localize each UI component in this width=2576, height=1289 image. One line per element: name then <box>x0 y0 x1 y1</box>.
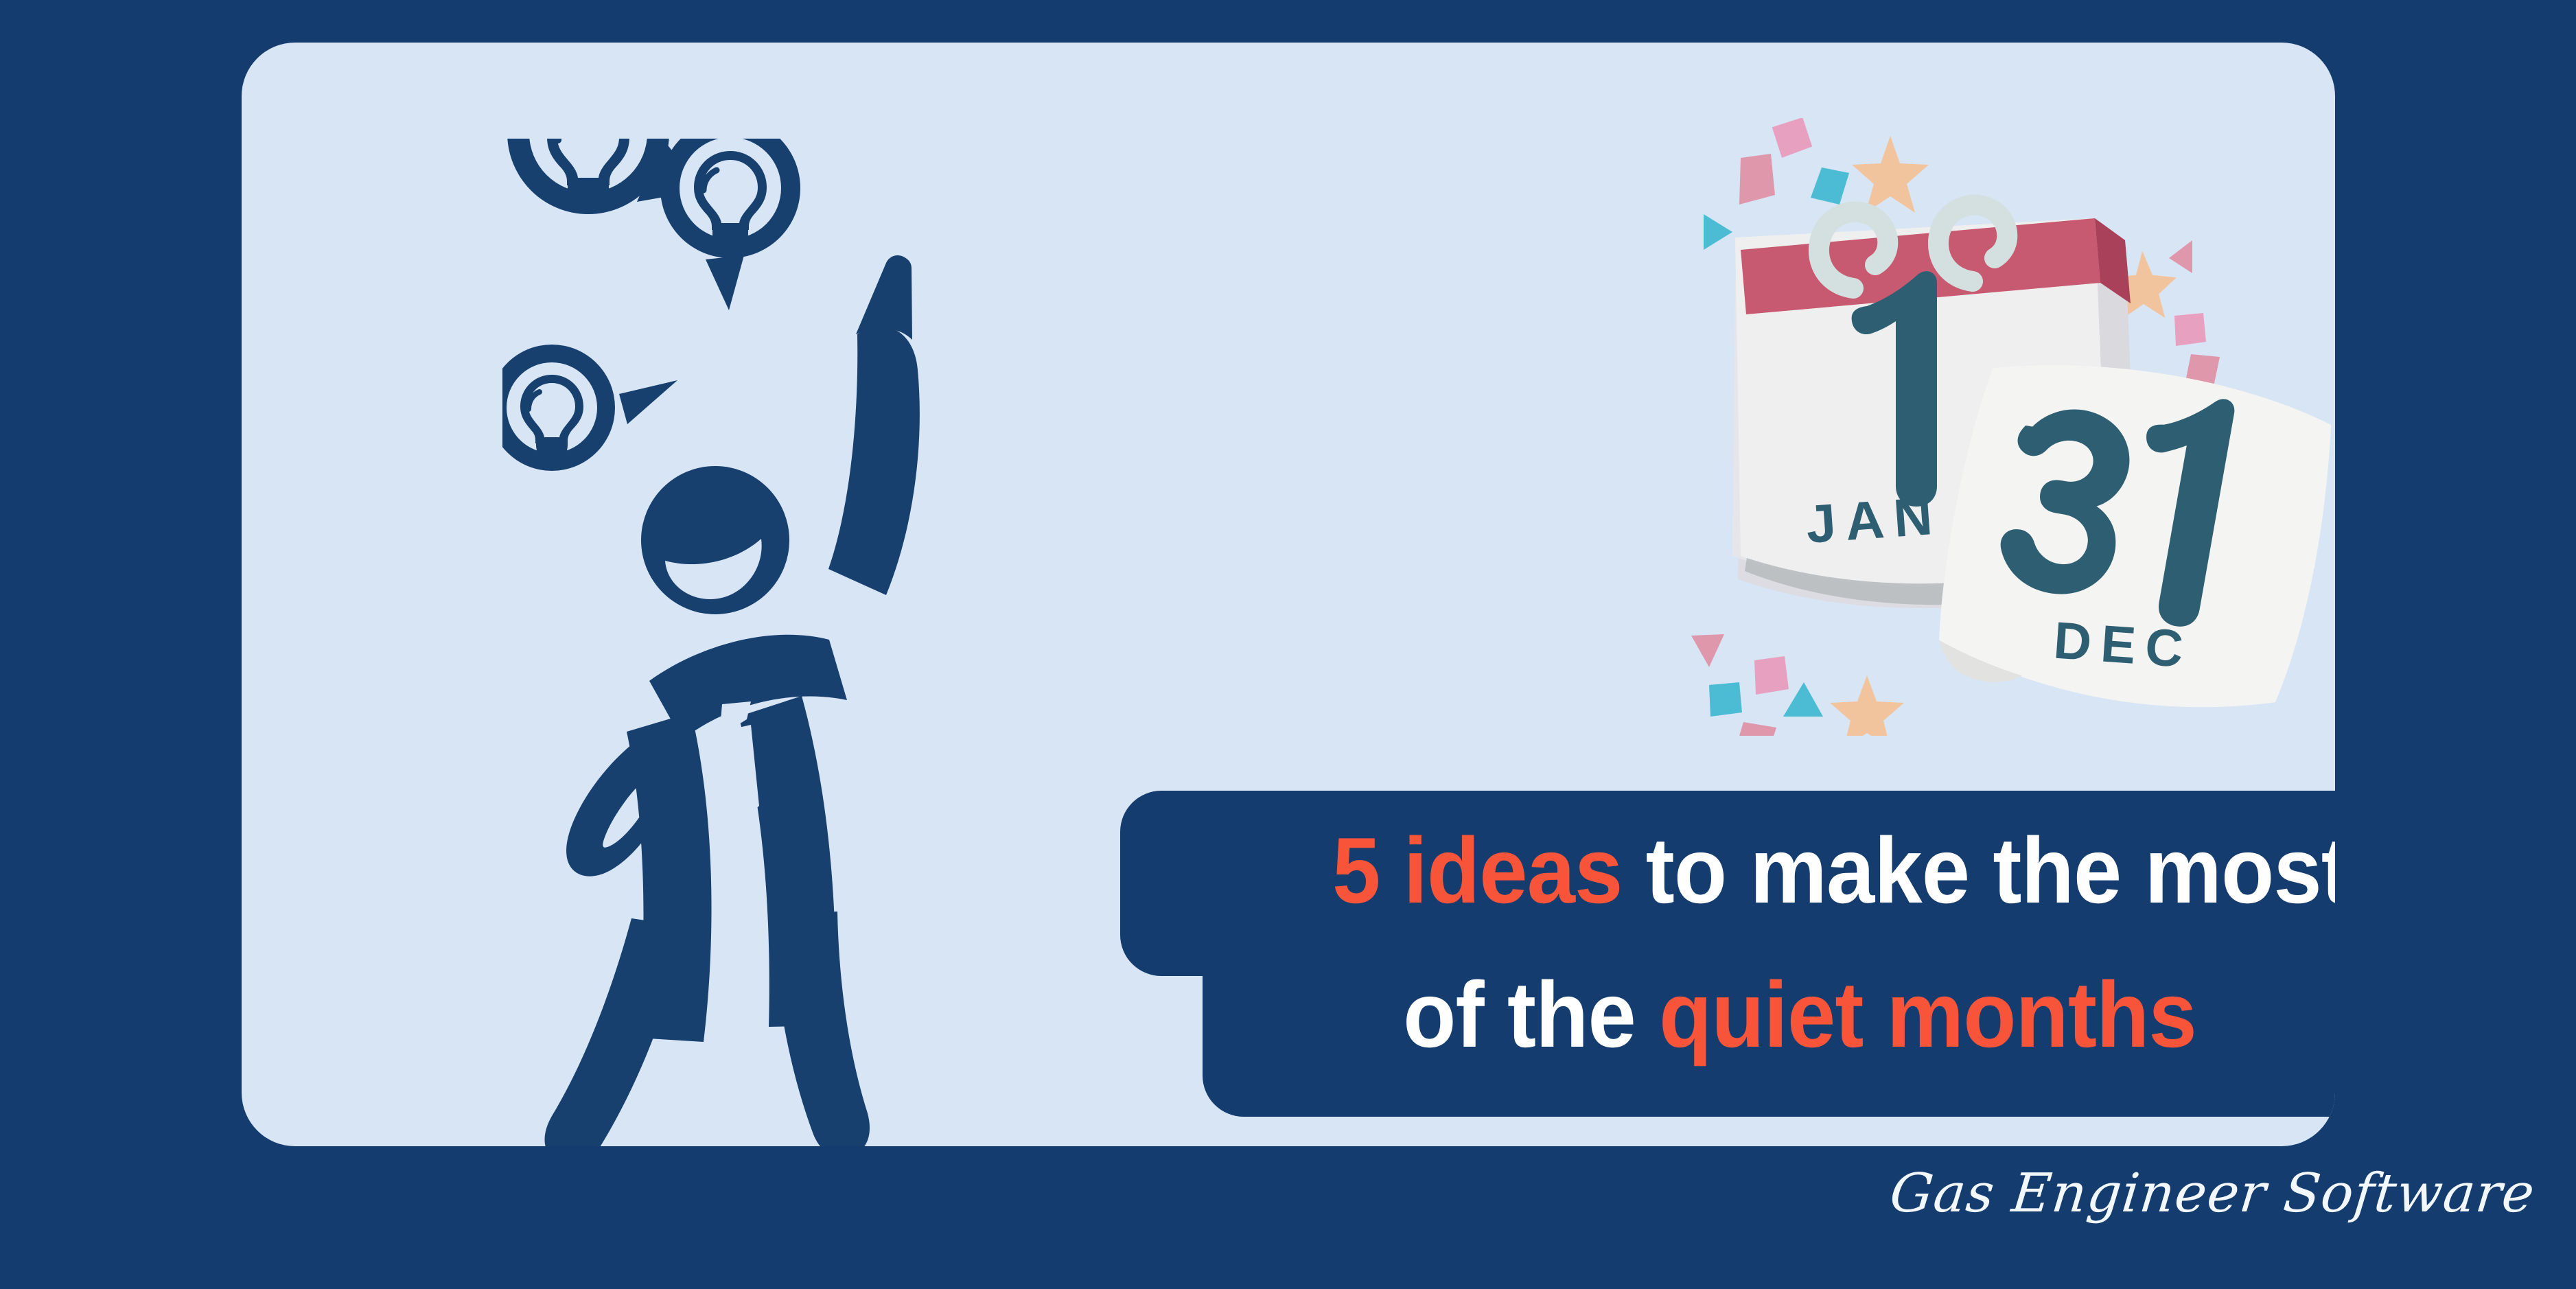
stick-figure-illustration <box>502 139 1106 1146</box>
confetti-group-bottom <box>1691 634 1904 736</box>
lightbulb-bubble-2 <box>660 139 800 310</box>
banner-root: JAN DEC <box>0 0 2576 1289</box>
headline-line-2: of the quiet months <box>1168 968 2335 1061</box>
headline-line-1: 5 ideas to make the most <box>1171 824 2336 917</box>
headline-accent-1: 5 ideas <box>1332 818 1622 922</box>
headline-rest-2: of the <box>1403 962 1659 1067</box>
svg-text:DEC: DEC <box>2052 612 2194 680</box>
head <box>641 466 789 614</box>
confetti-star-top <box>1852 136 1929 213</box>
raised-arm <box>828 255 920 595</box>
headline-banner: 5 ideas to make the most of the quiet mo… <box>1120 791 2335 1134</box>
logo-wordmark: Gas Engineer Software <box>1888 1163 2538 1224</box>
headline-rest-1: to make the most <box>1622 818 2335 922</box>
calendar-main-month: JAN <box>1804 485 1944 555</box>
lightbulb-bubble-3 <box>502 345 677 471</box>
calendar-torn-page <box>1927 342 2335 734</box>
headline-accent-2: quiet months <box>1659 962 2196 1067</box>
svg-text:JAN: JAN <box>1804 485 1944 555</box>
calendar-illustration: JAN DEC <box>1669 118 2335 736</box>
content-card: JAN DEC <box>242 43 2335 1146</box>
